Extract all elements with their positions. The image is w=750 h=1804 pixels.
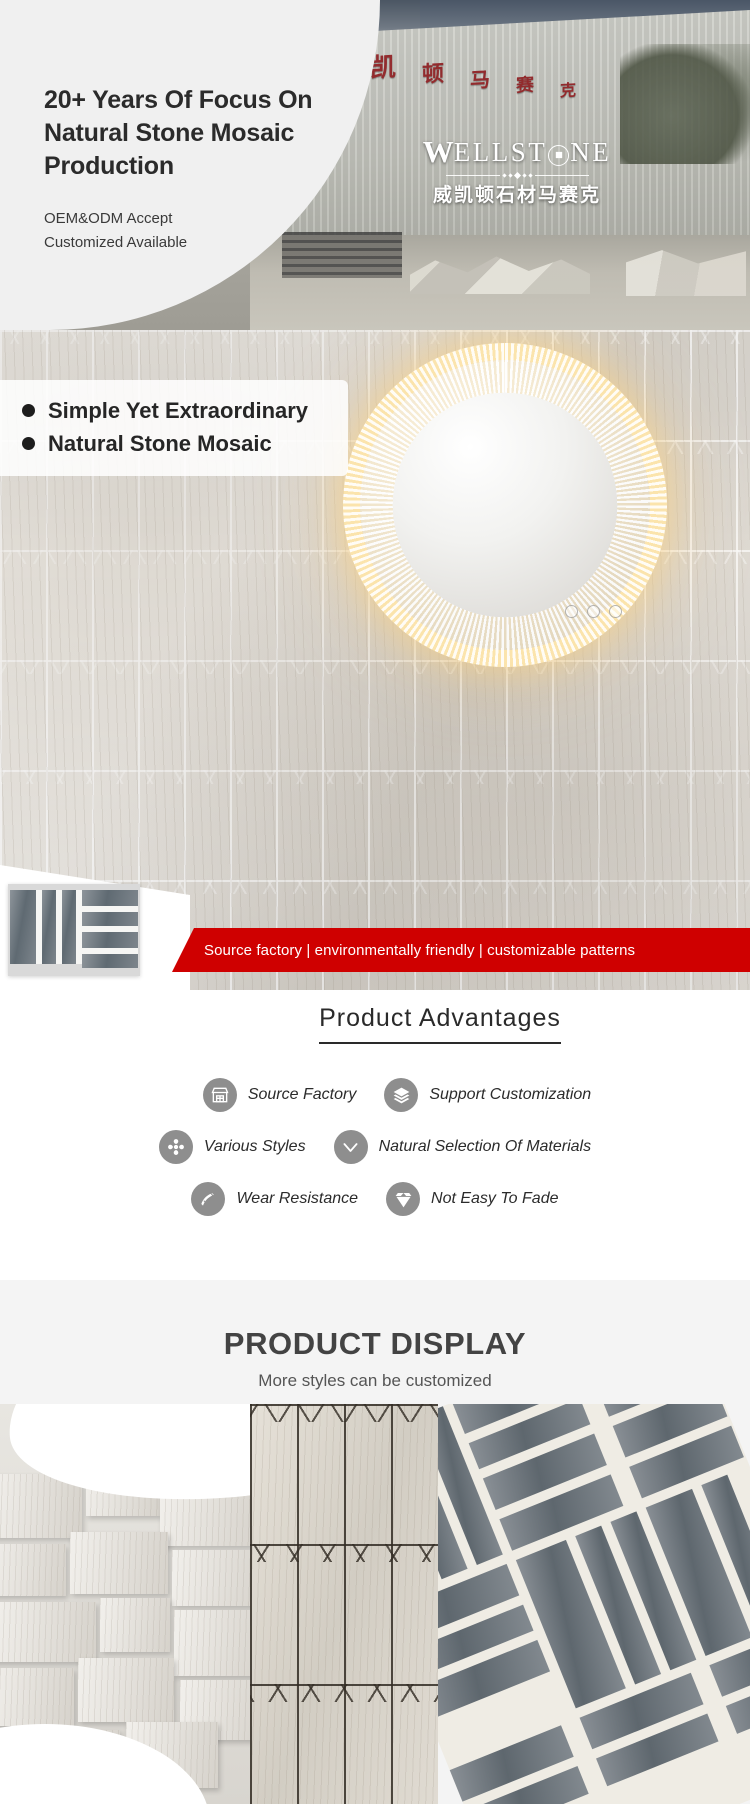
advantage-item-source-factory[interactable]: Source Factory (203, 1078, 356, 1112)
advantages-title: Product Advantages (319, 1004, 561, 1044)
diamond-in-circle-icon (548, 145, 569, 166)
advantage-label: Wear Resistance (236, 1190, 358, 1208)
logo-diamond-dots (503, 173, 532, 178)
product-display-header: PRODUCT DISPLAY More styles can be custo… (0, 1280, 750, 1391)
hero-text-block: 20+ Years Of Focus On Natural Stone Mosa… (0, 0, 380, 330)
brand-logo-wordmark: WELLSTNE (392, 134, 642, 170)
storefront-icon (203, 1078, 237, 1112)
mirror-control-2[interactable] (587, 605, 600, 618)
advantages-row-3: Wear Resistance Not Easy To Fade (40, 1182, 710, 1216)
advantage-item-not-easy-to-fade[interactable]: Not Easy To Fade (386, 1182, 558, 1216)
advantage-label: Source Factory (248, 1086, 356, 1104)
wall-sign-char-4: 赛 (516, 71, 534, 98)
advantages-row-2: Various Styles Natural Selection Of Mate… (40, 1130, 710, 1164)
bullet-dot-icon (22, 404, 35, 417)
product-thumbnail[interactable] (8, 884, 140, 976)
bullet-dot-icon (22, 437, 35, 450)
round-led-mirror (360, 360, 650, 650)
product-display-title: PRODUCT DISPLAY (0, 1326, 750, 1362)
brand-logo-ellst: ELLST (454, 137, 548, 168)
hero-subtitle: OEM&ODM Accept Customized Available (44, 207, 380, 255)
product-display-subtitle: More styles can be customized (0, 1371, 750, 1391)
showcase-headline-1: Simple Yet Extraordinary (22, 394, 308, 427)
logo-divider (392, 173, 642, 178)
product-display-section: PRODUCT DISPLAY More styles can be custo… (0, 1280, 750, 1804)
flower-icon (159, 1130, 193, 1164)
advantage-label: Not Easy To Fade (431, 1190, 558, 1208)
product-gallery-item-3[interactable] (438, 1404, 750, 1804)
brand-logo-ne: NE (570, 137, 611, 168)
brand-logo: WELLSTNE 威凯顿石材马赛克 (392, 134, 642, 207)
product-image-3d-stacked-stone (0, 1404, 250, 1804)
wall-sign-char-5: 克 (560, 76, 576, 101)
advantage-item-natural-selection[interactable]: Natural Selection Of Materials (334, 1130, 592, 1164)
product-gallery-item-2[interactable] (250, 1404, 438, 1804)
advantage-item-support-customization[interactable]: Support Customization (384, 1078, 591, 1112)
hero-section: 凯 顿 马 赛 克 20+ Years Of Focus On Natural … (0, 0, 750, 330)
trowel-icon (191, 1182, 225, 1216)
logo-rule-left (446, 175, 500, 176)
mirror-control-3[interactable] (609, 605, 622, 618)
showcase-headline-2: Natural Stone Mosaic (22, 427, 308, 460)
advantages-row-1: Source Factory Support Customization (40, 1078, 710, 1112)
product-image-basketweave-mosaic (438, 1404, 750, 1804)
advantages-title-wrap: Product Advantages (0, 1004, 750, 1044)
advantage-item-wear-resistance[interactable]: Wear Resistance (191, 1182, 358, 1216)
product-gallery (0, 1404, 750, 1804)
hero-subtitle-line-1: OEM&ODM Accept (44, 207, 380, 231)
diamond-icon (386, 1182, 420, 1216)
logo-rule-right (535, 175, 589, 176)
advantage-label: Natural Selection Of Materials (379, 1138, 592, 1156)
hero-subtitle-line-2: Customized Available (44, 231, 380, 255)
feature-ribbon-text: Source factory | environmentally friendl… (172, 942, 635, 959)
product-advantages-section: Product Advantages Source Factory (0, 990, 750, 1280)
showcase-section: Simple Yet Extraordinary Natural Stone M… (0, 330, 750, 990)
showcase-headline-1-label: Simple Yet Extraordinary (48, 394, 308, 427)
product-image-picket-mosaic (250, 1404, 438, 1804)
layers-icon (384, 1078, 418, 1112)
chevron-down-icon (334, 1130, 368, 1164)
mirror-control-1[interactable] (565, 605, 578, 618)
wall-sign-char-3: 马 (470, 63, 490, 93)
hero-title: 20+ Years Of Focus On Natural Stone Mosa… (44, 84, 344, 183)
brand-logo-chinese: 威凯顿石材马赛克 (392, 180, 642, 207)
product-gallery-item-1[interactable] (0, 1404, 250, 1804)
advantage-label: Support Customization (429, 1086, 591, 1104)
advantage-label: Various Styles (204, 1138, 306, 1156)
brand-logo-w: W (423, 134, 454, 170)
mirror-touch-controls[interactable] (565, 605, 622, 618)
wall-sign-char-2: 顿 (422, 56, 444, 89)
showcase-headline-2-label: Natural Stone Mosaic (48, 427, 272, 460)
advantage-item-various-styles[interactable]: Various Styles (159, 1130, 306, 1164)
advantages-list: Source Factory Support Customization (0, 1078, 750, 1216)
feature-ribbon: Source factory | environmentally friendl… (172, 928, 750, 972)
showcase-headlines: Simple Yet Extraordinary Natural Stone M… (0, 380, 348, 476)
picket-chevron-grout (250, 1404, 438, 1804)
